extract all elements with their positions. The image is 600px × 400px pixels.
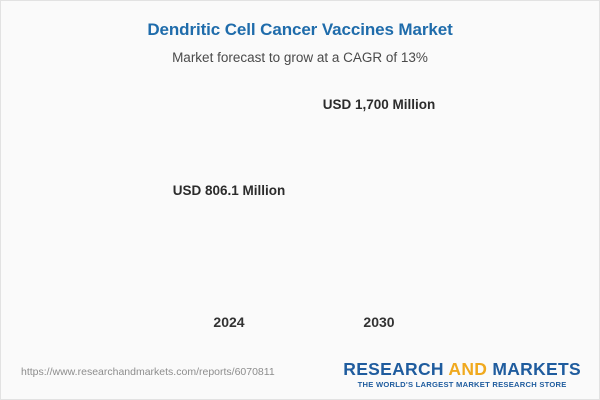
logo-word-and: AND [448,359,487,379]
category-label-2024: 2024 [213,314,244,330]
logo-tagline: THE WORLD'S LARGEST MARKET RESEARCH STOR… [343,380,581,389]
chart-plot-area: USD 806.1 Million 2024 USD 1,700 Million… [1,1,600,346]
research-and-markets-logo[interactable]: RESEARCH AND MARKETS THE WORLD'S LARGEST… [343,359,581,389]
logo-word-research: RESEARCH [343,359,448,379]
logo-word-markets: MARKETS [487,359,581,379]
value-label-2024: USD 806.1 Million [173,183,286,198]
category-label-2030: 2030 [363,314,394,330]
value-label-2030: USD 1,700 Million [323,97,436,112]
footer: https://www.researchandmarkets.com/repor… [1,351,599,399]
report-url[interactable]: https://www.researchandmarkets.com/repor… [21,366,275,378]
market-forecast-infographic: Dendritic Cell Cancer Vaccines Market Ma… [0,0,600,400]
logo-wordmark: RESEARCH AND MARKETS [343,359,581,379]
